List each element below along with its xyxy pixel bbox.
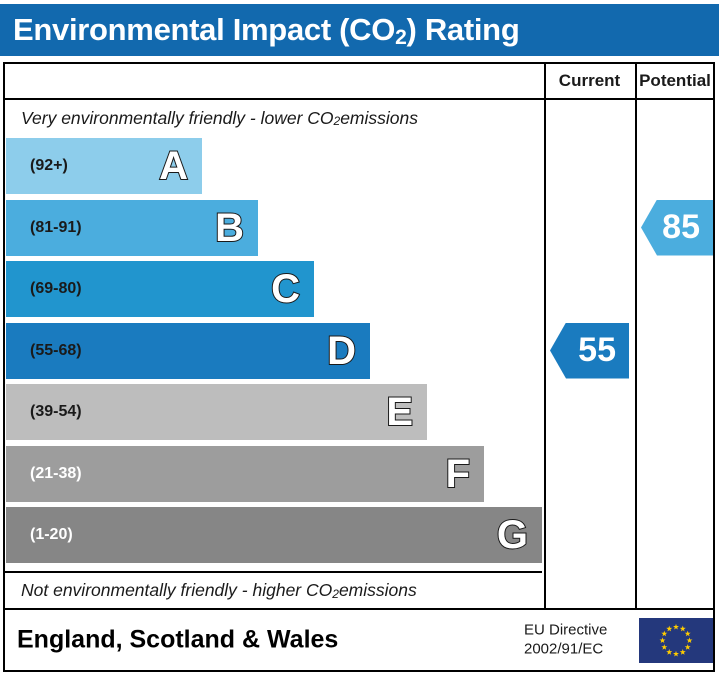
band-range-e: (39-54) [30, 403, 82, 421]
rating-band-f: (21-38)F [6, 446, 484, 502]
band-letter-d: D [327, 331, 356, 371]
rating-band-c: (69-80)C [6, 261, 314, 317]
rating-band-e: (39-54)E [6, 384, 427, 440]
band-range-d: (55-68) [30, 342, 82, 360]
eu-directive-line1: EU Directive [524, 621, 607, 640]
caption-top-subscript: 2 [334, 114, 341, 128]
rating-table: Current Potential Very environmentally f… [3, 62, 715, 610]
certificate-footer: England, Scotland & Wales EU Directive 2… [3, 610, 715, 672]
column-header-current: Current [544, 64, 635, 98]
rating-bands: (92+)A(81-91)B(69-80)C(55-68)D(39-54)E(2… [5, 138, 542, 571]
band-letter-e: E [386, 392, 413, 432]
rating-band-g: (1-20)G [6, 507, 542, 563]
band-range-c: (69-80) [30, 280, 82, 298]
current-rating-value: 55 [578, 331, 616, 370]
band-range-b: (81-91) [30, 219, 82, 237]
band-letter-f: F [446, 454, 470, 494]
caption-top: Very environmentally friendly - lower CO… [5, 100, 542, 136]
band-letter-c: C [271, 269, 300, 309]
caption-bottom: Not environmentally friendly - higher CO… [5, 571, 542, 608]
caption-bottom-subscript: 2 [332, 587, 339, 601]
epc-environmental-impact-certificate: Environmental Impact (CO2) Rating Curren… [0, 0, 719, 675]
current-rating-badge: 55 [550, 323, 629, 379]
page-title: Environmental Impact (CO2) Rating [0, 12, 519, 48]
column-divider-potential [635, 64, 637, 608]
column-divider-current [544, 64, 546, 608]
eu-directive-line2: 2002/91/EC [524, 640, 607, 659]
band-range-a: (92+) [30, 157, 68, 175]
band-range-f: (21-38) [30, 465, 82, 483]
table-header-row: Current Potential [5, 64, 713, 100]
title-subscript: 2 [395, 26, 406, 49]
band-letter-b: B [215, 208, 244, 248]
rating-band-b: (81-91)B [6, 200, 258, 256]
potential-rating-value: 85 [662, 208, 700, 247]
column-header-potential: Potential [637, 64, 713, 98]
eu-flag-icon [639, 618, 713, 663]
region-label: England, Scotland & Wales [17, 626, 338, 655]
eu-directive-label: EU Directive 2002/91/EC [524, 621, 607, 659]
potential-rating-badge: 85 [641, 200, 713, 256]
title-banner: Environmental Impact (CO2) Rating [0, 4, 719, 56]
band-range-g: (1-20) [30, 526, 73, 544]
rating-band-a: (92+)A [6, 138, 202, 194]
band-letter-a: A [159, 146, 188, 186]
band-letter-g: G [497, 515, 528, 555]
rating-band-d: (55-68)D [6, 323, 370, 379]
